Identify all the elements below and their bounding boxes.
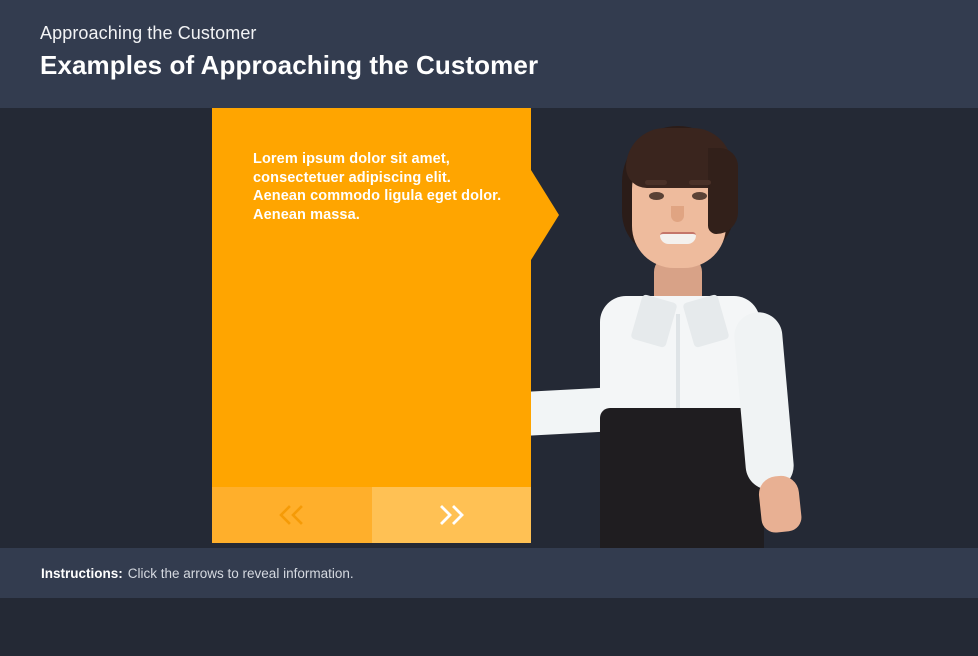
slide-stage: Lorem ipsum dolor sit amet, consectetuer… [0, 108, 978, 548]
presenter-eyebrow-left [645, 180, 667, 185]
information-panel-text: Lorem ipsum dolor sit amet, consectetuer… [253, 150, 503, 224]
presenter-eye-right [692, 192, 707, 200]
presenter-eye-left [649, 192, 664, 200]
presenter-nose [671, 206, 684, 222]
instructions-text: Click the arrows to reveal information. [128, 566, 354, 581]
slide-container: Approaching the Customer Examples of App… [0, 0, 978, 656]
callout-pointer [531, 170, 559, 260]
header-eyebrow: Approaching the Customer [40, 22, 978, 44]
slide-header: Approaching the Customer Examples of App… [0, 0, 978, 108]
reveal-next-button[interactable] [372, 487, 532, 543]
reveal-prev-button[interactable] [212, 487, 372, 543]
double-chevron-left-icon [275, 504, 309, 526]
player-toolbar: 19 /57 [0, 598, 978, 656]
double-chevron-right-icon [434, 504, 468, 526]
page-title: Examples of Approaching the Customer [40, 47, 978, 83]
presenter-skirt [600, 408, 764, 548]
reveal-navigation [212, 487, 531, 543]
presenter-right-hand [757, 474, 803, 534]
presenter-eyebrow-right [689, 180, 711, 185]
instructions-bar: Instructions: Click the arrows to reveal… [0, 548, 978, 598]
presenter-hair-side [708, 148, 738, 234]
instructions-label: Instructions: [41, 566, 123, 581]
presenter-mouth [660, 232, 696, 244]
